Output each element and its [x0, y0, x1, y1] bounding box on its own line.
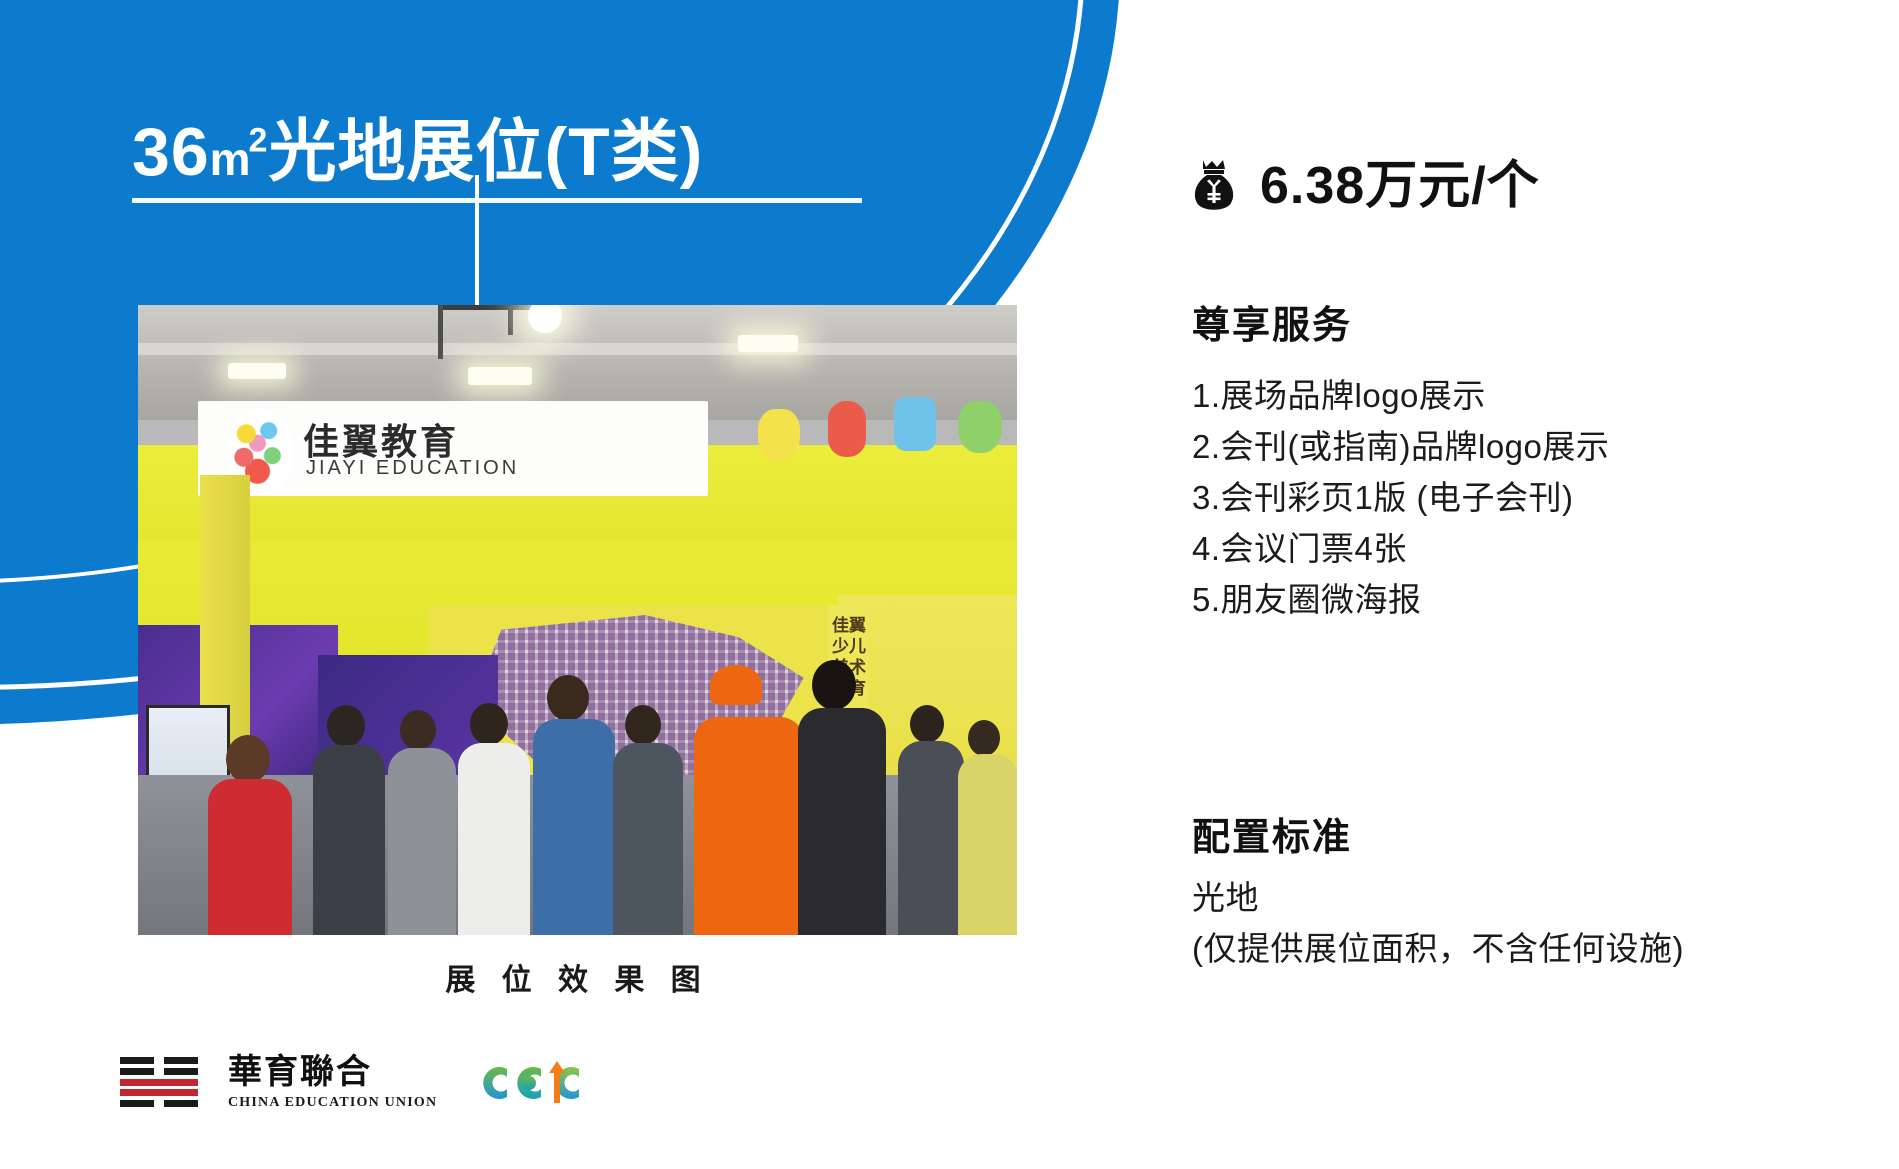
title-superscript: 2	[249, 121, 269, 159]
config-block: 光地 (仅提供展位面积，不含任何设施)	[1192, 872, 1684, 974]
cec-logo-icon	[479, 1057, 587, 1109]
photo-mascot-4	[958, 401, 1002, 453]
title-unit: m	[210, 133, 249, 185]
footer-logo: 華育聯合 CHINA EDUCATION UNION	[120, 1055, 587, 1111]
page-title-text: 36m2光地展位(T类)	[132, 118, 703, 186]
money-bag-icon	[1190, 158, 1238, 214]
slide-canvas: 36m2光地展位(T类) 佳翼教育 JIAYI EDUCATION 佳翼少儿美术…	[0, 0, 1899, 1169]
footer-org-en: CHINA EDUCATION UNION	[228, 1095, 437, 1111]
photo-booth-brand-cn: 佳翼教育	[303, 413, 633, 453]
photo-ceiling-beam	[138, 343, 1017, 355]
photo-mascot-3	[894, 397, 936, 451]
photo-ceiling-light-1	[228, 363, 286, 379]
service-item: 2.会刊(或指南)品牌logo展示	[1192, 421, 1609, 472]
photo-booth-brand-en: JIAYI EDUCATION	[306, 457, 636, 480]
photo-ceiling-light-3	[738, 335, 798, 352]
photo-ceiling-light-2	[468, 367, 532, 385]
photo-ceiling-rod-2	[508, 305, 513, 335]
service-heading: 尊享服务	[1192, 294, 1352, 349]
price-row: 6.38万元/个	[1190, 158, 1540, 214]
photo-mascot-2	[828, 401, 866, 457]
service-item: 3.会刊彩页1版 (电子会刊)	[1192, 472, 1609, 523]
title-underline	[132, 198, 862, 203]
footer-org-names: 華育聯合 CHINA EDUCATION UNION	[228, 1055, 437, 1111]
service-item: 4.会议门票4张	[1192, 523, 1609, 574]
config-heading: 配置标准	[1192, 806, 1352, 861]
page-title: 36m2光地展位(T类)	[132, 118, 703, 186]
service-item: 1.展场品牌logo展示	[1192, 370, 1609, 421]
booth-photo: 佳翼教育 JIAYI EDUCATION 佳翼少儿美术教育	[138, 305, 1017, 935]
service-item: 5.朋友圈微海报	[1192, 574, 1609, 625]
photo-ceiling-rod-1	[438, 305, 443, 359]
photo-caption: 展 位 效 果 图	[138, 955, 1017, 999]
service-list: 1.展场品牌logo展示 2.会刊(或指南)品牌logo展示 3.会刊彩页1版 …	[1192, 370, 1609, 625]
config-line: (仅提供展位面积，不含任何设施)	[1192, 923, 1684, 974]
title-number: 36	[132, 114, 210, 190]
price-value: 6.38万元/个	[1260, 160, 1540, 212]
config-line: 光地	[1192, 872, 1684, 923]
details-panel: 6.38万元/个 尊享服务 1.展场品牌logo展示 2.会刊(或指南)品牌lo…	[1190, 0, 1850, 1169]
footer-org-cn: 華育聯合	[228, 1055, 437, 1091]
photo-mascot-1	[758, 409, 800, 461]
title-rest: 光地展位(T类)	[268, 114, 703, 190]
union-bars-icon	[120, 1055, 202, 1111]
